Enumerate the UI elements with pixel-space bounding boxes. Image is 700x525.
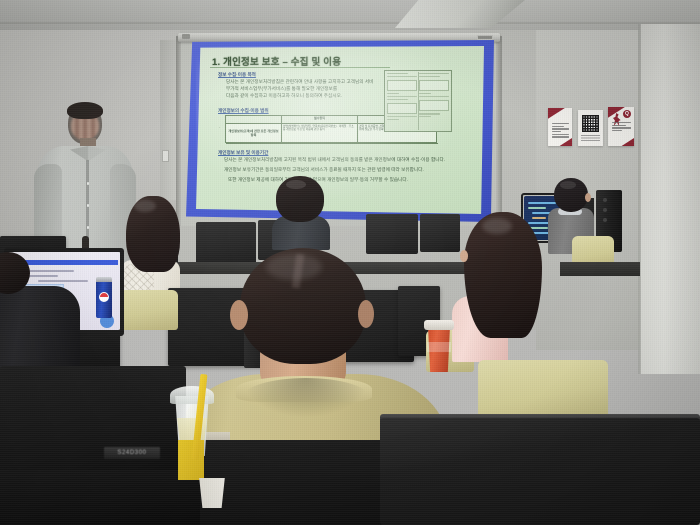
shirt-shadow xyxy=(242,378,370,418)
monitor-foreground-left xyxy=(0,366,186,478)
poster-badge: Q xyxy=(623,110,631,118)
student-ear xyxy=(585,193,591,202)
doc-column-right xyxy=(419,73,449,129)
monitor-foreground-bottom xyxy=(0,470,200,525)
shirt-button xyxy=(87,182,90,185)
slide-title-rule xyxy=(210,67,390,68)
screen-frame-right xyxy=(496,36,502,221)
slide-body-line: 당사는 본 개인정보처리방침에 고지된 목적 범위 내에서 고객님의 동의를 받… xyxy=(224,157,445,163)
chair[interactable] xyxy=(118,290,178,330)
ceiling xyxy=(0,0,700,34)
wall-pillar xyxy=(640,24,700,374)
poster-notice-right: Q xyxy=(608,107,634,146)
hair-highlight xyxy=(560,181,576,189)
slide-body-line: 다음과 같이 수집하고 이용하고자 하오니 동의하여 주십시오. xyxy=(226,93,342,99)
poster-text-lines xyxy=(552,123,569,138)
presenter-hair xyxy=(67,102,103,119)
student-ear xyxy=(230,300,248,330)
monitor-model-label: S24D300 xyxy=(104,447,160,459)
screen-rail-bracket-left xyxy=(182,34,190,39)
student-ear xyxy=(358,300,374,328)
hair-highlight xyxy=(134,200,156,212)
monitor-foreground-right xyxy=(380,418,700,525)
poster-text-lines xyxy=(612,122,631,131)
doc-divider xyxy=(418,72,419,130)
slide-body-line: 부가적 서비스업무(부가서비스)를 통해 필요한 개인정보를 xyxy=(226,86,337,92)
slide-body-line: 당사는 본 개인정보처리방침은 관련하여 안내 사항을 고지하고 고객님의 서비 xyxy=(226,79,373,85)
classroom-photo: 1. 개인정보 보호 – 수집 및 이용 정보 수집·이용 목적 당사는 본 개… xyxy=(0,0,700,525)
ceiling-seam xyxy=(0,22,700,24)
screen-rail-bracket-right xyxy=(477,35,493,40)
slide-table-marker: · xyxy=(219,126,220,130)
student-ear xyxy=(460,250,468,262)
table-header-required: 필수항목 xyxy=(282,116,358,124)
poster-swoosh-icon xyxy=(548,108,568,120)
doc-column-left xyxy=(387,73,417,129)
shirt-button xyxy=(87,204,90,207)
table-header-blank xyxy=(226,116,282,124)
student-back-center xyxy=(272,176,332,246)
pillar-edge xyxy=(638,24,641,374)
whiteboard-latch[interactable] xyxy=(162,150,169,162)
cup-dome-lid xyxy=(170,386,214,404)
desk-right xyxy=(560,262,640,276)
hair-highlight xyxy=(286,180,306,189)
poster-swoosh-icon xyxy=(617,136,634,146)
hair-highlight xyxy=(482,218,512,234)
shirt-button xyxy=(87,226,90,229)
table-cell-required: 성명(실명확인), 생년월일, 연락처(휴대전화번호) · 이메일 · 주소 등… xyxy=(282,124,358,144)
slide-body-line: 개인정보 보유기간은 동의일로부터 고객님의 서비스가 종료될 때까지 또는 관… xyxy=(224,167,424,173)
slide-section-heading-2: 개인정보의 수집·이용 범위 xyxy=(218,108,269,114)
slide-section-heading-3: 개인정보 보유 및 이용기간 xyxy=(218,150,268,156)
poster-caption-lines xyxy=(581,135,600,141)
can-lid xyxy=(96,277,112,282)
poster-notice-left xyxy=(548,108,572,146)
slide-section-heading-1: 정보 수집·이용 목적 xyxy=(218,72,256,78)
drink-label xyxy=(178,440,204,480)
table-row-label: 개인정보의(고객)에 관한 모든 개인정보 항목 xyxy=(226,124,282,144)
slide-title: 1. 개인정보 보호 – 수집 및 이용 xyxy=(212,54,341,68)
projected-slide: 1. 개인정보 보호 – 수집 및 이용 정보 수집·이용 목적 당사는 본 개… xyxy=(196,46,484,214)
student-pink-top xyxy=(452,212,544,362)
qr-code-icon xyxy=(582,115,599,132)
pepsi-logo-icon xyxy=(99,292,109,302)
poster-qr-code xyxy=(578,110,603,146)
